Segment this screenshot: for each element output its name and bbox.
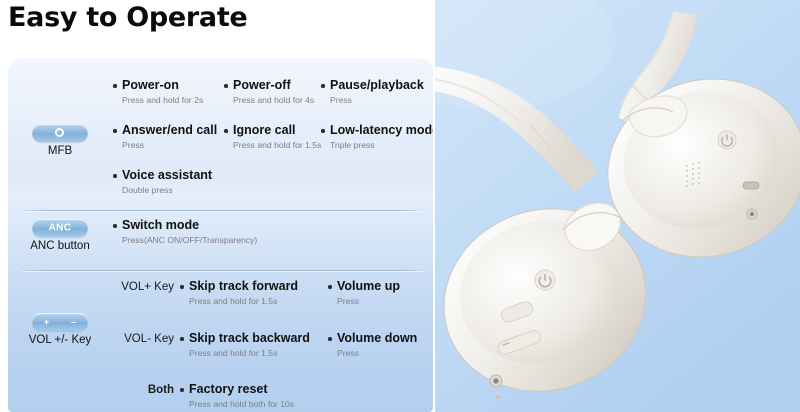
feature-sub: Press and hold for 4s [233,95,314,106]
feature-title: Skip track backward [180,331,310,346]
anc-glyph-label: ANC [32,223,88,234]
feature-title: Switch mode [113,218,257,233]
feature-sub: Triple press [330,140,433,151]
aux-jack-lower [490,375,502,387]
feature-switch-mode[interactable]: Switch mode Press(ANC ON/OFF/Transparenc… [113,218,257,246]
feature-skip-track-backward[interactable]: Skip track backward Press and hold for 1… [180,331,310,359]
feature-sub: Press(ANC ON/OFF/Transparency) [122,235,257,246]
feature-title: Ignore call [224,123,321,138]
feature-title: Skip track forward [180,279,298,294]
feature-title: Power-off [224,78,314,93]
feature-skip-track-forward[interactable]: Skip track forward Press and hold for 1.… [180,279,298,307]
feature-sub: Press [337,296,400,307]
feature-sub: Press and hold for 1.5s [189,296,298,307]
aux-jack-upper [747,209,757,219]
mfb-circle-glyph [55,128,64,137]
page-title: Easy to Operate [8,2,247,33]
section-divider-1 [22,210,423,211]
operations-panel: MFB Power-on Press and hold for 2s Power… [8,58,433,412]
subkey-both: Both [106,384,174,396]
feature-title: Low-latency mode [321,123,433,138]
feature-volume-down[interactable]: Volume down Press [328,331,417,359]
feature-low-latency-mode[interactable]: Low-latency mode Triple press [321,123,433,151]
mfb-round-button-icon[interactable] [32,124,88,142]
anc-button-icon[interactable]: ANC [32,219,88,237]
subkey-vol-minus: VOL- Key [106,333,174,345]
feature-sub: Double press [122,185,212,196]
feature-sub: Press [337,348,417,359]
feature-sub: Press and hold for 1.5s [233,140,321,151]
feature-title: Voice assistant [113,168,212,183]
key-column-volume: + – VOL +/- Key [14,313,106,346]
key-column-mfb: MFB [14,124,106,157]
feature-title: Factory reset [180,382,294,397]
feature-title: Pause/playback [321,78,424,93]
key-column-anc: ANC ANC button [14,219,106,252]
feature-title: Volume down [328,331,417,346]
feature-answer-end-call[interactable]: Answer/end call Press [113,123,217,151]
power-button-upper [718,131,736,149]
key-caption-volume: VOL +/- Key [14,334,106,346]
feature-factory-reset[interactable]: Factory reset Press and hold both for 10… [180,382,294,410]
feature-title: Volume up [328,279,400,294]
feature-ignore-call[interactable]: Ignore call Press and hold for 1.5s [224,123,321,151]
subkey-vol-plus: VOL+ Key [106,281,174,293]
key-caption-mfb: MFB [14,145,106,157]
feature-sub: Press and hold both for 10s [189,399,294,410]
volume-rocker-icon[interactable]: + – [32,313,88,331]
feature-sub: Press [330,95,424,106]
feature-sub: Press and hold for 2s [122,95,203,106]
headphones-illustration [435,0,800,412]
feature-power-on[interactable]: Power-on Press and hold for 2s [113,78,203,106]
feature-sub: Press and hold for 1.5s [189,348,310,359]
key-caption-anc: ANC button [14,240,106,252]
product-photo [435,0,800,412]
led-indicator-lower [496,395,500,399]
power-button-lower [535,270,555,290]
feature-title: Answer/end call [113,123,217,138]
feature-sub: Press [122,140,217,151]
feature-volume-up[interactable]: Volume up Press [328,279,400,307]
feature-power-off[interactable]: Power-off Press and hold for 4s [224,78,314,106]
section-divider-2 [22,270,423,271]
feature-voice-assistant[interactable]: Voice assistant Double press [113,168,212,196]
feature-title: Power-on [113,78,203,93]
usbc-port-upper [743,182,759,189]
feature-pause-playback[interactable]: Pause/playback Press [321,78,424,106]
